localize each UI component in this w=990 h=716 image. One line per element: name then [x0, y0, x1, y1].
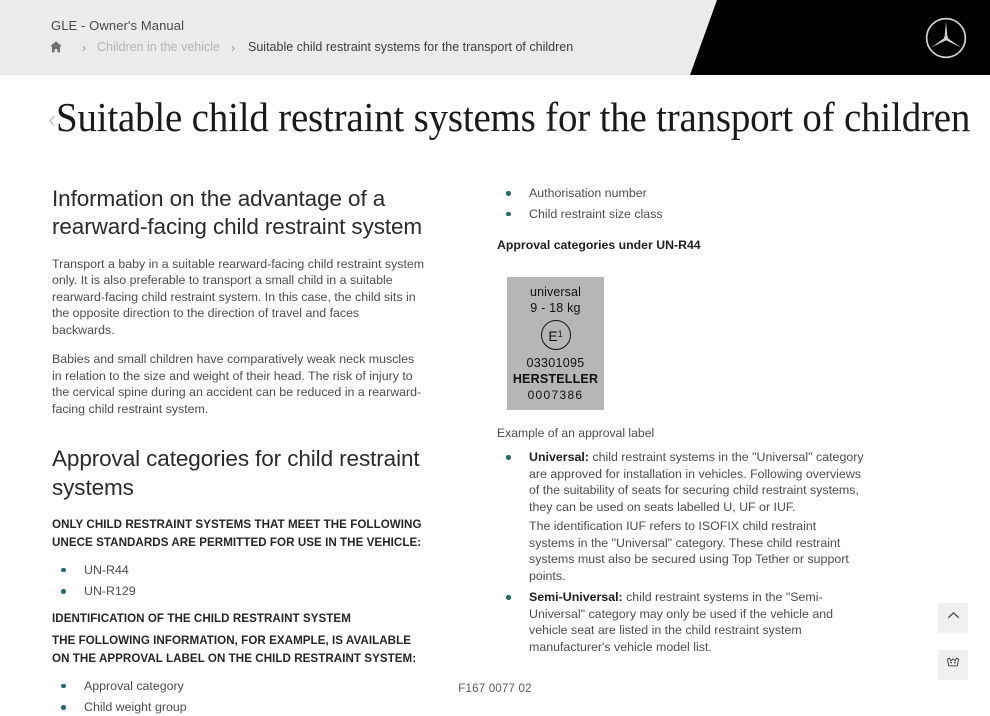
list-item: Universal: child restraint systems in th…	[497, 449, 865, 584]
chevron-left-icon[interactable]: ‹	[48, 108, 56, 132]
right-column: Authorisation number Child restraint siz…	[445, 185, 915, 655]
breadcrumb-separator-2: ›	[222, 41, 244, 54]
category-extra-text: The identification IUF refers to ISOFIX …	[529, 518, 865, 584]
list-item: UN-R129	[52, 583, 425, 600]
list-approval-categories: Universal: child restraint systems in th…	[497, 449, 865, 655]
breadcrumb-parent-link[interactable]: Children in the vehicle	[95, 40, 222, 54]
accessibility-icon	[946, 656, 960, 675]
section-heading-approval-categories: Approval categories for child restraint …	[52, 445, 425, 502]
approval-label-serial: 0007386	[528, 388, 584, 402]
page-title-row: ‹ Suitable child restraint systems for t…	[0, 96, 990, 139]
approval-mark-number: 1	[558, 319, 563, 349]
chevron-up-icon	[946, 608, 961, 628]
main-content: Information on the advantage of a rearwa…	[0, 185, 990, 655]
breadcrumb-separator-1: ›	[73, 41, 95, 54]
list-identification-info-continued: Authorisation number Child restraint siz…	[497, 185, 865, 222]
mercedes-benz-star-icon	[924, 16, 968, 60]
approval-label-weight: 9 - 18 kg	[530, 301, 580, 315]
home-icon[interactable]	[49, 40, 63, 54]
subheading-unece-standards: ONLY CHILD RESTRAINT SYSTEMS THAT MEET T…	[52, 516, 425, 552]
breadcrumb-current-page: Suitable child restraint systems for the…	[244, 40, 573, 54]
manual-title: GLE - Owner's Manual	[51, 18, 184, 33]
left-column: Information on the advantage of a rearwa…	[0, 185, 445, 655]
accessibility-button[interactable]	[938, 650, 968, 680]
approval-label-number: 03301095	[526, 356, 584, 370]
approval-mark-circle: E1	[541, 320, 571, 350]
subheading-identification: IDENTIFICATION OF THE CHILD RESTRAINT SY…	[52, 610, 425, 628]
approval-label-manufacturer: HERSTELLER	[513, 372, 598, 386]
list-item: Child restraint size class	[497, 206, 865, 223]
list-item: UN-R44	[52, 562, 425, 579]
category-term: Universal:	[529, 450, 589, 464]
breadcrumb: › Children in the vehicle › Suitable chi…	[49, 40, 573, 54]
list-item: Child weight group	[52, 699, 425, 716]
page-title: Suitable child restraint systems for the…	[56, 96, 970, 139]
approval-label-figure: universal 9 - 18 kg E1 03301095 HERSTELL…	[497, 277, 865, 410]
approval-label-image: universal 9 - 18 kg E1 03301095 HERSTELL…	[507, 277, 604, 410]
paragraph-neck-muscles: Babies and small children have comparati…	[52, 351, 425, 417]
approval-mark-letter: E	[548, 321, 557, 351]
category-term: Semi-Universal:	[529, 590, 623, 604]
approval-label-category: universal	[530, 285, 581, 299]
section-heading-advantage: Information on the advantage of a rearwa…	[52, 185, 425, 242]
list-item-label: Child weight group	[84, 700, 187, 714]
subheading-approval-label-info: THE FOLLOWING INFORMATION, FOR EXAMPLE, …	[52, 632, 425, 668]
list-item-label: UN-R129	[84, 584, 136, 598]
figure-caption: Example of an approval label	[497, 426, 865, 440]
list-item-label: UN-R44	[84, 563, 129, 577]
list-item-label: Authorisation number	[529, 186, 647, 200]
list-unece-standards: UN-R44 UN-R129	[52, 562, 425, 600]
list-item: Authorisation number	[497, 185, 865, 202]
app-header: GLE - Owner's Manual › Children in the v…	[0, 0, 990, 75]
scroll-to-top-button[interactable]	[938, 603, 968, 633]
list-item-label: Child restraint size class	[529, 207, 663, 221]
subheading-approval-categories-unr44: Approval categories under UN-R44	[497, 238, 865, 252]
list-item: Semi-Universal: child restraint systems …	[497, 589, 865, 655]
document-code: F167 0077 02	[0, 683, 990, 695]
paragraph-transport-baby: Transport a baby in a suitable rearward-…	[52, 256, 425, 339]
